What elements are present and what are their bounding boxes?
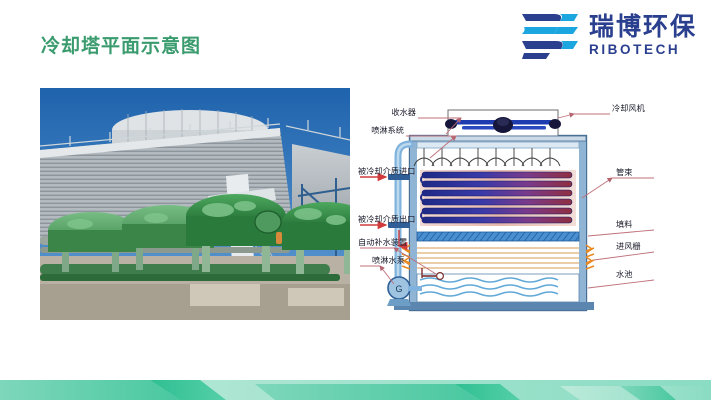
cooling-tower-photo [40, 88, 350, 320]
logo-mark-icon [520, 10, 582, 62]
pump-symbol: G [395, 284, 402, 294]
logo-chinese-name: 瑞博环保 [589, 15, 697, 40]
label-spray-system: 喷淋系统 [371, 125, 404, 135]
label-spray-pump: 喷淋水泵 [372, 255, 405, 265]
cooling-tower-schematic: G [358, 96, 700, 320]
decorative-bottom-band [0, 374, 711, 400]
logo-text-block: 瑞博环保 RIBOTECH [589, 15, 697, 57]
label-air-intake-louver: 进风栅 [616, 241, 641, 251]
photo-illustration [40, 88, 350, 320]
slide-canvas: 冷却塔平面示意图 瑞博环保 RIBOTECH [0, 0, 711, 400]
label-auto-water-makeup: 自动补水装置 [358, 237, 407, 247]
brand-logo: 瑞博环保 RIBOTECH [520, 10, 697, 62]
label-filler: 填料 [616, 219, 632, 229]
schematic-drawing: G [358, 96, 700, 320]
label-medium-outlet: 被冷却介质出口 [358, 214, 415, 224]
label-water-collector: 收水器 [391, 107, 416, 117]
label-water-basin: 水池 [616, 269, 632, 279]
label-tube-bundle: 管束 [616, 167, 632, 177]
label-medium-inlet: 被冷却介质进口 [358, 166, 415, 176]
label-cooling-fan: 冷却风机 [612, 103, 646, 113]
logo-english-name: RIBOTECH [589, 43, 697, 57]
page-title: 冷却塔平面示意图 [41, 31, 201, 58]
